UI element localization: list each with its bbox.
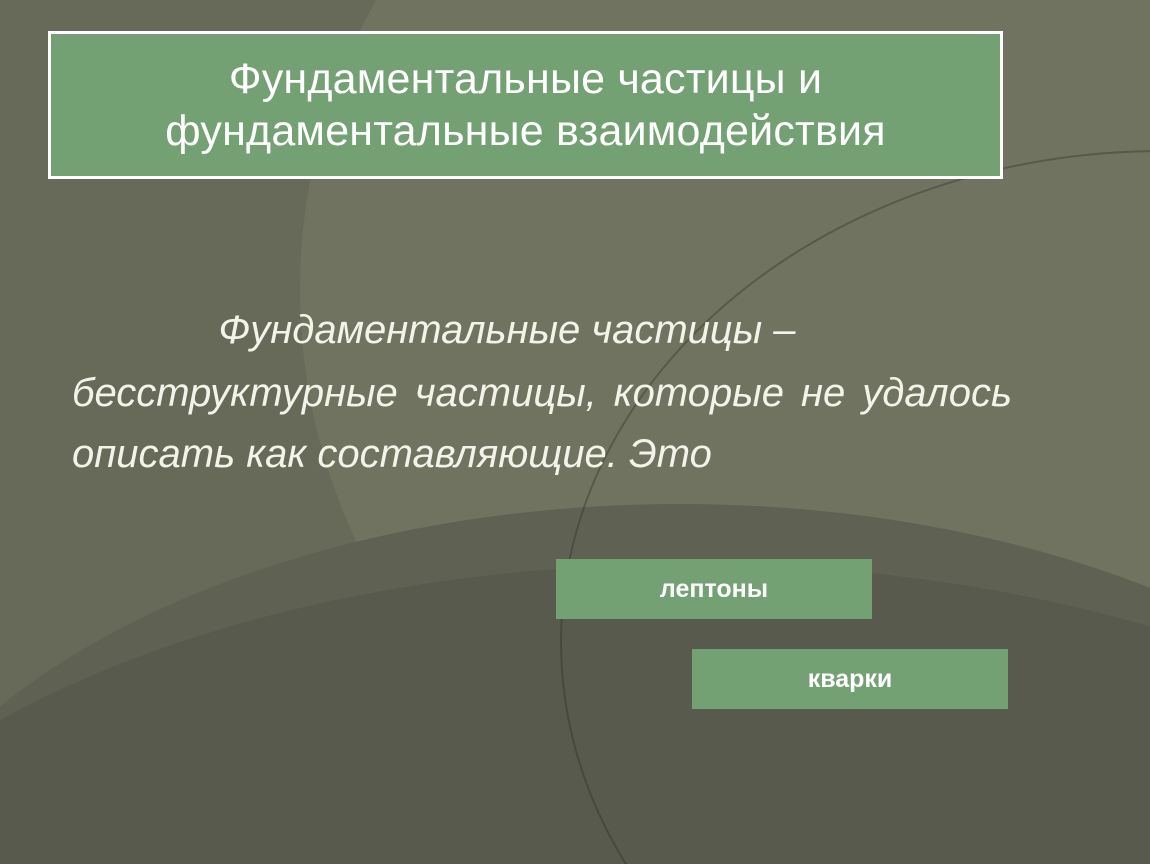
background-arc-line <box>560 150 1150 864</box>
slide-canvas: Фундаментальные частицы и фундаментальны… <box>0 0 1150 864</box>
body-lead-line: Фундаментальные частицы – <box>72 300 1012 361</box>
slide-title-box: Фундаментальные частицы и фундаментальны… <box>48 31 1003 179</box>
slide-body: Фундаментальные частицы – бесструктурные… <box>72 300 1012 484</box>
answer-box-leptons[interactable]: лептоны <box>556 559 872 619</box>
slide-title: Фундаментальные частицы и фундаментальны… <box>51 53 1000 158</box>
answer-label-quarks: кварки <box>808 665 893 694</box>
body-paragraph: бесструктурные частицы, которые не удало… <box>72 363 1012 485</box>
answer-label-leptons: лептоны <box>660 575 768 604</box>
answer-box-quarks[interactable]: кварки <box>692 649 1008 709</box>
